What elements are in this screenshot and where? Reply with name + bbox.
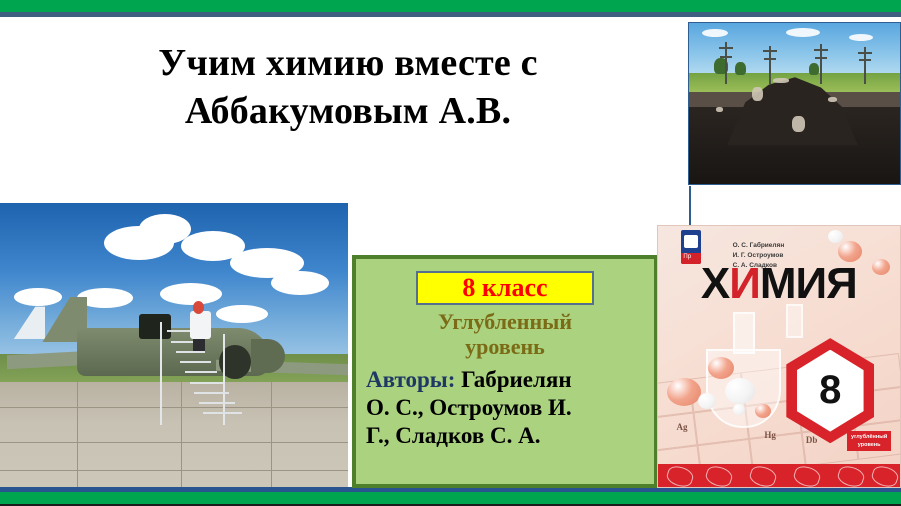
molecule-bubble [667, 378, 701, 406]
power-pylon [769, 46, 771, 85]
book-level-badge: углублённый уровень [847, 431, 891, 452]
molecule-bubble [733, 404, 745, 415]
level-line-1: Углубленный [366, 309, 644, 334]
tree-shape [735, 62, 746, 75]
cloud-shape [160, 283, 222, 305]
molecule-bubble [755, 404, 771, 418]
authors-label: Авторы: [366, 367, 455, 392]
cloud-shape [786, 28, 820, 37]
course-info-box: 8 класс Углубленный уровень Авторы: Габр… [352, 255, 658, 488]
apron-seam [77, 382, 78, 487]
book-level-line-1: углублённый [851, 433, 887, 441]
publisher-logo-text: Пр [683, 254, 691, 260]
flask-neck [733, 312, 755, 354]
debris-shape [792, 116, 805, 132]
apron-seam [0, 442, 348, 443]
power-pylon [725, 42, 727, 84]
dna-swirl-icon [747, 464, 778, 488]
power-pylon [820, 44, 822, 84]
debris-shape [716, 107, 723, 112]
textbook-cover: Ag Hg Db Al Пр О. С. [657, 225, 901, 488]
debris-shape [773, 78, 789, 83]
molecule-bubble [828, 230, 843, 243]
apron-seam [0, 470, 348, 471]
top-green-bar [0, 0, 901, 12]
element-symbol-ag: Ag [677, 422, 688, 432]
book-level-line-2: уровень [851, 441, 887, 449]
book-author-1: О. С. Габриелян [733, 241, 785, 251]
photo-aircraft [0, 203, 348, 487]
grade-hexagon: 8 [786, 338, 874, 443]
connector-line-vertical [689, 186, 691, 229]
apron-seam [271, 382, 272, 487]
debris-shape [752, 87, 763, 101]
book-title-part-1: Х [701, 259, 729, 308]
book-title-part-red: И [729, 259, 760, 308]
publisher-logo-band: Пр [681, 253, 701, 264]
book-title-part-2: МИЯ [760, 259, 857, 308]
publisher-logo-mark [684, 235, 698, 248]
dna-swirl-icon [835, 464, 866, 488]
debris-shape [828, 97, 837, 102]
book-title: ХИМИЯ [701, 259, 857, 309]
dna-swirl-icon [704, 464, 735, 488]
level-line-2: уровень [366, 334, 644, 359]
authors-line-1: Авторы: Габриелян [366, 366, 644, 394]
authors-line-2: О. С., Остроумов И. [366, 394, 644, 422]
title-line-1: Учим химию вместе с [58, 40, 638, 88]
publisher-logo-icon: Пр [681, 230, 701, 264]
dna-swirl-icon [664, 464, 695, 488]
book-background: Ag Hg Db Al Пр О. С. [657, 225, 901, 488]
molecule-bubble [725, 378, 755, 404]
photo-coal-heap [688, 22, 901, 185]
bottom-green-bar [0, 492, 901, 504]
level-text: Углубленный уровень [366, 309, 644, 360]
page-title: Учим химию вместе с Аббакумовым А.В. [58, 40, 638, 135]
molecule-bubble [708, 357, 734, 379]
person-head [193, 301, 204, 314]
authors-line-3: Г., Сладков С. А. [366, 422, 644, 450]
element-symbol-hg: Hg [764, 430, 776, 440]
top-blue-bar [0, 12, 901, 17]
authors-name-1: Габриелян [455, 367, 571, 392]
molecule-bubble [872, 259, 890, 275]
book-footer-band [657, 464, 901, 488]
tree-shape [809, 63, 819, 75]
stair-rail [160, 322, 162, 424]
slide-root: Учим химию вместе с Аббакумовым А.В. [0, 0, 901, 506]
person-body [190, 311, 211, 339]
title-line-2: Аббакумовым А.В. [58, 88, 638, 136]
dna-swirl-icon [869, 464, 900, 488]
authors-text: Авторы: Габриелян О. С., Остроумов И. Г.… [366, 366, 644, 450]
dna-swirl-icon [791, 464, 822, 488]
grade-badge: 8 класс [416, 271, 594, 305]
power-pylon [864, 47, 866, 84]
